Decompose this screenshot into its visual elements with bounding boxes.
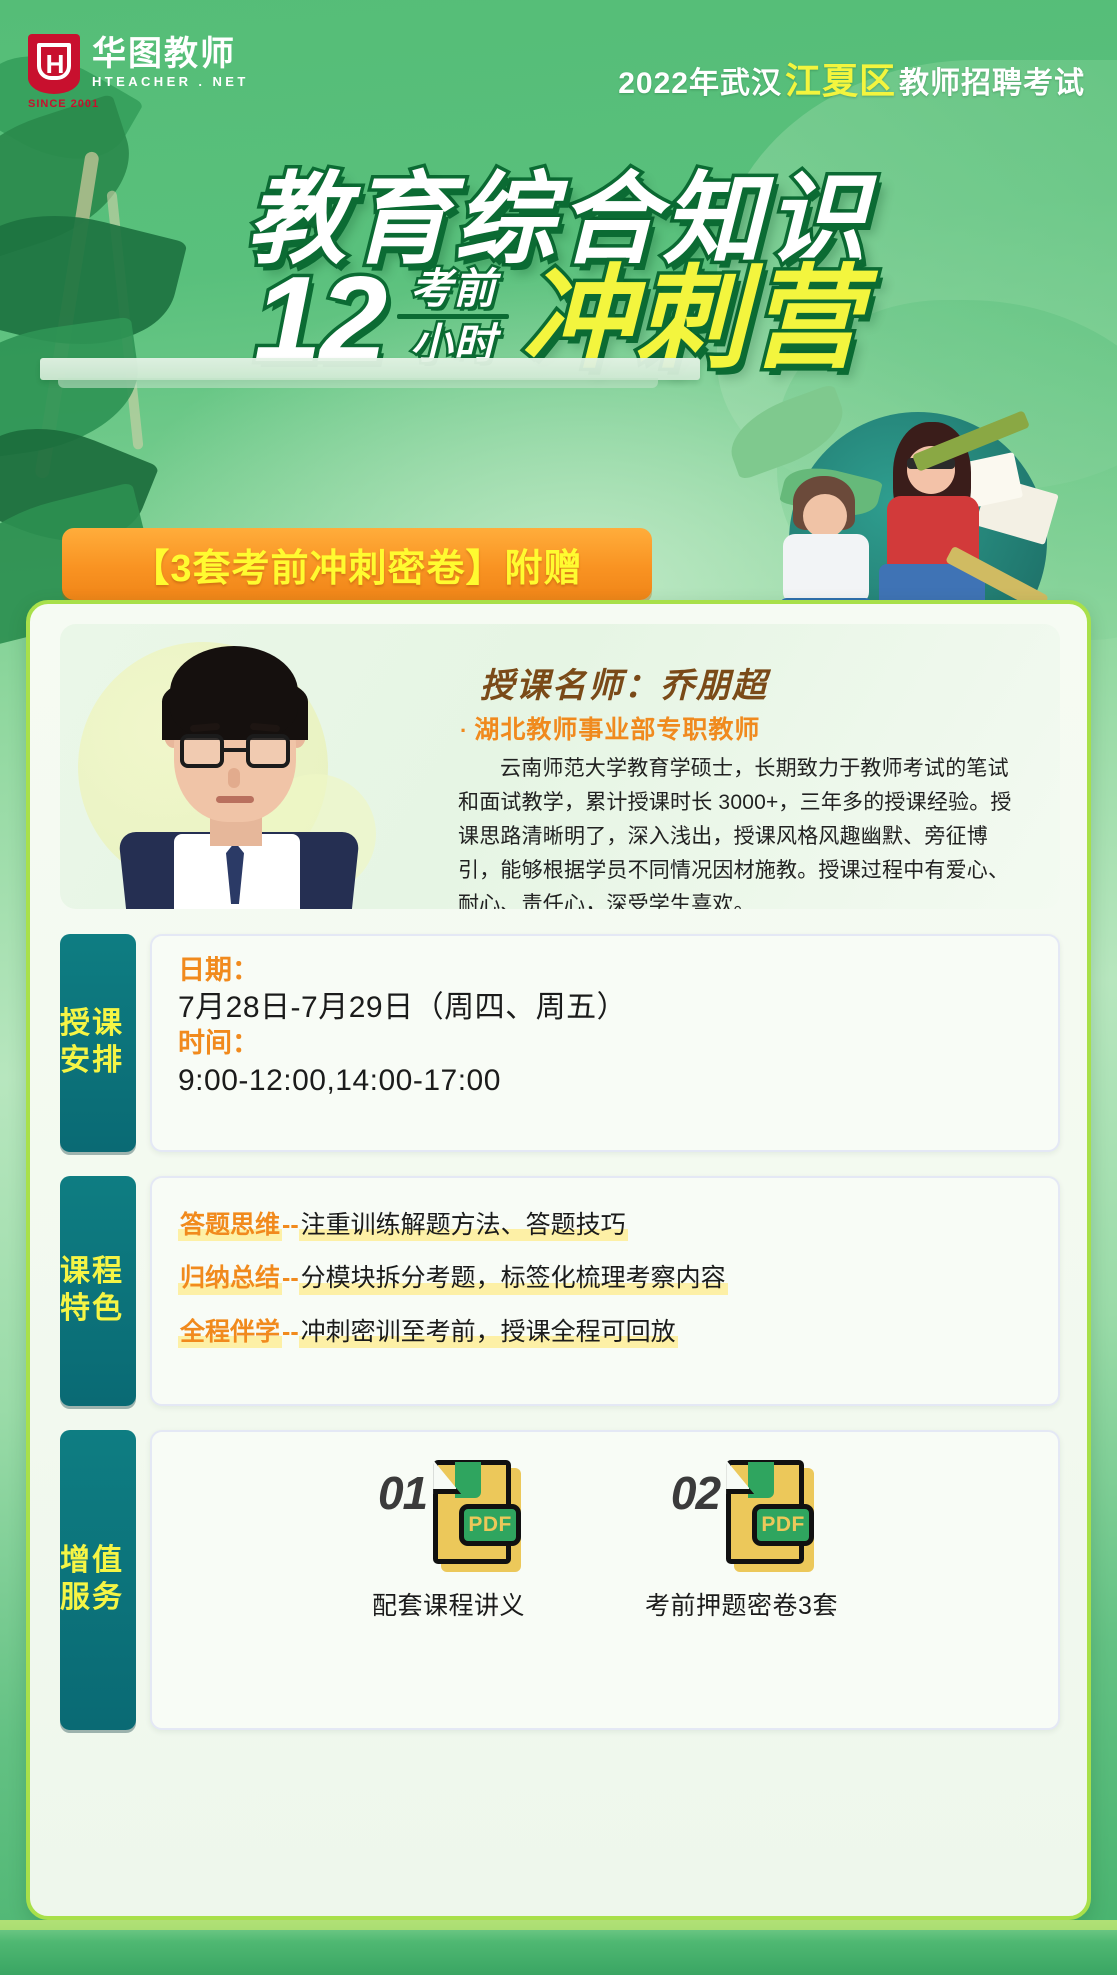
schedule-date-label: 日期： bbox=[178, 954, 1032, 988]
feature-item: 归纳总结--分模块拆分考题，标签化梳理考察内容 bbox=[178, 1263, 1032, 1294]
hero-stack-divider bbox=[397, 314, 509, 319]
schedule-time-label: 时间： bbox=[178, 1027, 1032, 1061]
pdf-file-icon: PDF bbox=[726, 1460, 812, 1572]
value-added-index: 02 bbox=[671, 1466, 720, 1520]
exam-title-highlight: 江夏区 bbox=[782, 52, 899, 104]
exam-title: 2022年武汉 江夏区 教师招聘考试 bbox=[618, 52, 1085, 104]
teacher-bio: 云南师范大学教育学硕士，长期致力于教师考试的笔试和面试教学，累计授课时长 300… bbox=[458, 752, 1018, 909]
list-item: 02 PDF 考前押题密卷3套 bbox=[645, 1460, 838, 1622]
brand-since: SINCE 2001 bbox=[28, 98, 99, 110]
value-added-caption: 配套课程讲义 bbox=[372, 1586, 525, 1622]
list-item: 01 PDF 配套课程讲义 bbox=[372, 1460, 525, 1622]
value-added-icon-group: 02 PDF bbox=[671, 1460, 812, 1572]
footer-edge bbox=[0, 1920, 1117, 1930]
section-features-tab: 课程特色 bbox=[60, 1176, 136, 1406]
bullet-icon: · bbox=[460, 718, 468, 743]
teacher-name: 授课名师：乔朋超 bbox=[480, 658, 768, 707]
schedule-date-value: 7月28日-7月29日（周四、周五） bbox=[178, 988, 1032, 1027]
teacher-portrait bbox=[112, 636, 362, 909]
pdf-badge-label: PDF bbox=[459, 1504, 521, 1546]
promo-banner-primary-label: 【3套考前冲刺密卷】附赠 bbox=[131, 537, 582, 592]
brand-logo-text: 华图教师 HTEACHER . NET bbox=[92, 37, 249, 91]
pdf-file-icon: PDF bbox=[433, 1460, 519, 1572]
portrait-hair bbox=[170, 646, 298, 738]
feature-value: 注重训练解题方法、答题技巧 bbox=[299, 1210, 628, 1241]
pdf-badge-label: PDF bbox=[752, 1504, 814, 1546]
teacher-role-label: 湖北教师事业部专职教师 bbox=[474, 716, 760, 744]
hero-title-block: 教育综合知识 12 考前 小时 冲刺营 bbox=[0, 118, 1117, 368]
footer-strip bbox=[0, 1920, 1117, 1975]
shield-icon: H bbox=[28, 34, 80, 94]
portrait-nose bbox=[228, 768, 240, 788]
section-schedule-tab: 授课安排 bbox=[60, 934, 136, 1152]
feature-separator: -- bbox=[282, 1317, 299, 1348]
section-schedule: 授课安排 日期： 7月28日-7月29日（周四、周五） 时间： 9:00-12:… bbox=[60, 934, 1060, 1152]
exam-title-suffix: 教师招聘考试 bbox=[899, 58, 1085, 102]
value-added-index: 01 bbox=[378, 1466, 427, 1520]
feature-key: 全程伴学 bbox=[178, 1317, 282, 1348]
portrait-mouth bbox=[216, 796, 254, 803]
feature-separator: -- bbox=[282, 1210, 299, 1241]
section-schedule-body: 日期： 7月28日-7月29日（周四、周五） 时间： 9:00-12:00,14… bbox=[150, 934, 1060, 1152]
poster-header: H 华图教师 HTEACHER . NET SINCE 2001 2022年武汉… bbox=[0, 0, 1117, 118]
value-added-icon-group: 01 PDF bbox=[378, 1460, 519, 1572]
illustration-boy-shirt bbox=[783, 534, 869, 604]
value-added-caption: 考前押题密卷3套 bbox=[645, 1586, 838, 1622]
shelf-decoration bbox=[40, 358, 700, 380]
section-value-added: 增值服务 01 PDF bbox=[60, 1430, 1060, 1730]
section-value-added-tab: 增值服务 bbox=[60, 1430, 136, 1730]
poster-root: H 华图教师 HTEACHER . NET SINCE 2001 2022年武汉… bbox=[0, 0, 1117, 1975]
shelf-decoration-shadow bbox=[58, 378, 658, 388]
brand-name-en: HTEACHER . NET bbox=[92, 73, 249, 91]
glasses-icon bbox=[180, 734, 290, 768]
teacher-role: ·湖北教师事业部专职教师 bbox=[460, 710, 760, 746]
feature-key: 答题思维 bbox=[178, 1210, 282, 1241]
illustration-boy-face bbox=[803, 494, 847, 538]
hero-stack-top: 考前 bbox=[410, 266, 496, 311]
value-added-list: 01 PDF 配套课程讲义 bbox=[178, 1450, 1032, 1622]
feature-value: 分模块拆分考题，标签化梳理考察内容 bbox=[299, 1263, 728, 1294]
section-features-body: 答题思维--注重训练解题方法、答题技巧 归纳总结--分模块拆分考题，标签化梳理考… bbox=[150, 1176, 1060, 1406]
promo-banner-primary[interactable]: 【3套考前冲刺密卷】附赠 bbox=[62, 528, 652, 600]
logo-mark-letter: H bbox=[46, 51, 63, 77]
feature-item: 全程伴学--冲刺密训至考前，授课全程可回放 bbox=[178, 1317, 1032, 1348]
exam-title-prefix: 2022年武汉 bbox=[618, 58, 782, 102]
section-value-added-body: 01 PDF 配套课程讲义 bbox=[150, 1430, 1060, 1730]
section-features: 课程特色 答题思维--注重训练解题方法、答题技巧 归纳总结--分模块拆分考题，标… bbox=[60, 1176, 1060, 1406]
feature-separator: -- bbox=[282, 1263, 299, 1294]
hero-stacked-label: 考前 小时 bbox=[397, 266, 509, 366]
teacher-profile: 授课名师：乔朋超 ·湖北教师事业部专职教师 云南师范大学教育学硕士，长期致力于教… bbox=[60, 624, 1060, 909]
content-card: 授课名师：乔朋超 ·湖北教师事业部专职教师 云南师范大学教育学硕士，长期致力于教… bbox=[26, 600, 1091, 1920]
schedule-time-value: 9:00-12:00,14:00-17:00 bbox=[178, 1061, 1032, 1100]
feature-item: 答题思维--注重训练解题方法、答题技巧 bbox=[178, 1210, 1032, 1241]
brand-logo: H 华图教师 HTEACHER . NET SINCE 2001 bbox=[28, 34, 249, 94]
feature-key: 归纳总结 bbox=[178, 1263, 282, 1294]
feature-value: 冲刺密训至考前，授课全程可回放 bbox=[299, 1317, 678, 1348]
brand-name-cn: 华图教师 bbox=[92, 37, 249, 73]
